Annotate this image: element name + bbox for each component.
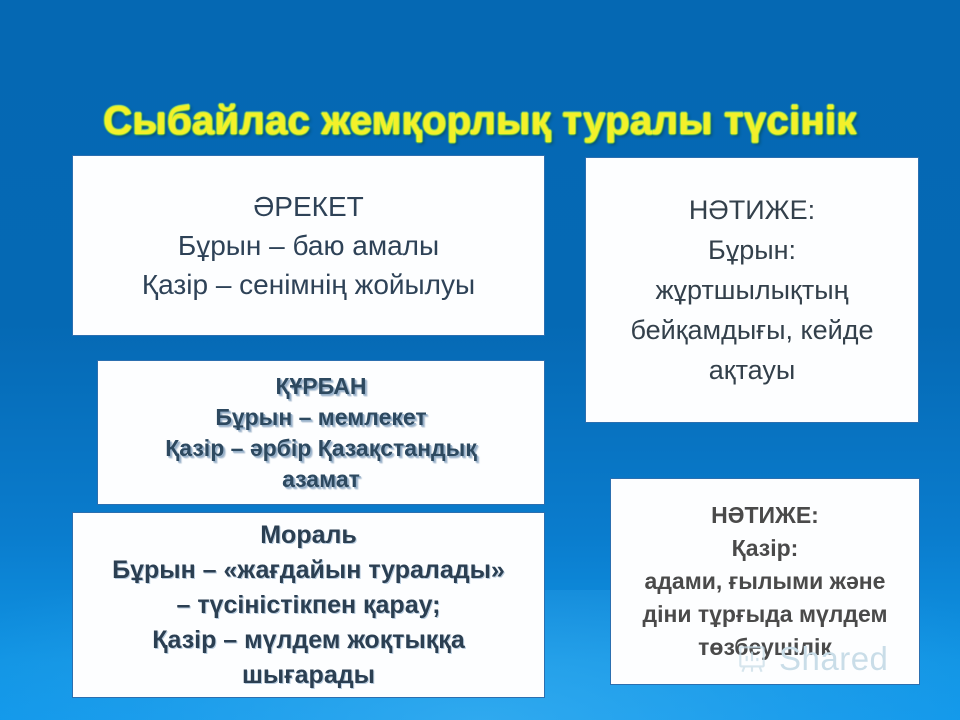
action-line-3: Қазір – сенімнің жойылуы <box>142 265 475 304</box>
victim-line-3: Қазір – әрбір Қазақстандық <box>165 433 476 464</box>
moral-line-4: Қазір – мүлдем жоқтыққа <box>152 623 464 658</box>
action-line-2: Бұрын – баю амалы <box>178 226 439 265</box>
content-box-action: ӘРЕКЕТ Бұрын – баю амалы Қазір – сенімні… <box>72 155 545 336</box>
result-now-line-3: адами, ғылыми және <box>645 565 886 598</box>
result-past-line-2: Бұрын: <box>708 230 796 270</box>
victim-line-1: ҚҰРБАН <box>275 371 366 402</box>
moral-line-5: шығарады <box>242 658 375 693</box>
page-title: Сыбайлас жемқорлық туралы түсінік <box>0 99 960 144</box>
content-box-result-now: НӘТИЖЕ: Қазір: адами, ғылыми және діни т… <box>610 478 920 685</box>
content-box-victim: ҚҰРБАН Бұрын – мемлекет Қазір – әрбір Қа… <box>97 360 545 505</box>
victim-line-2: Бұрын – мемлекет <box>215 402 426 433</box>
content-box-result-past: НӘТИЖЕ: Бұрын: жұртшылықтың бейқамдығы, … <box>585 157 919 423</box>
moral-line-3: – түсіністікпен қарау; <box>176 588 440 623</box>
moral-line-2: Бұрын – «жағдайын туралады» <box>112 553 505 588</box>
slide-canvas: Сыбайлас жемқорлық туралы түсінік ӘРЕКЕТ… <box>0 0 960 720</box>
result-past-line-5: ақтауы <box>709 350 796 390</box>
result-now-line-4: діни тұрғыда мүлдем <box>642 598 887 631</box>
result-now-line-2: Қазір: <box>732 532 799 565</box>
content-box-moral: Мораль Бұрын – «жағдайын туралады» – түс… <box>72 512 545 698</box>
result-now-line-1: НӘТИЖЕ: <box>711 499 819 532</box>
result-now-line-5: төзбеушілік <box>698 631 832 664</box>
victim-line-4: азамат <box>282 464 360 495</box>
action-line-1: ӘРЕКЕТ <box>253 187 364 226</box>
result-past-line-4: бейқамдығы, кейде <box>630 310 873 350</box>
moral-line-1: Мораль <box>260 518 357 553</box>
result-past-line-3: жұртшылықтың <box>655 270 848 310</box>
result-past-line-1: НӘТИЖЕ: <box>689 190 815 230</box>
